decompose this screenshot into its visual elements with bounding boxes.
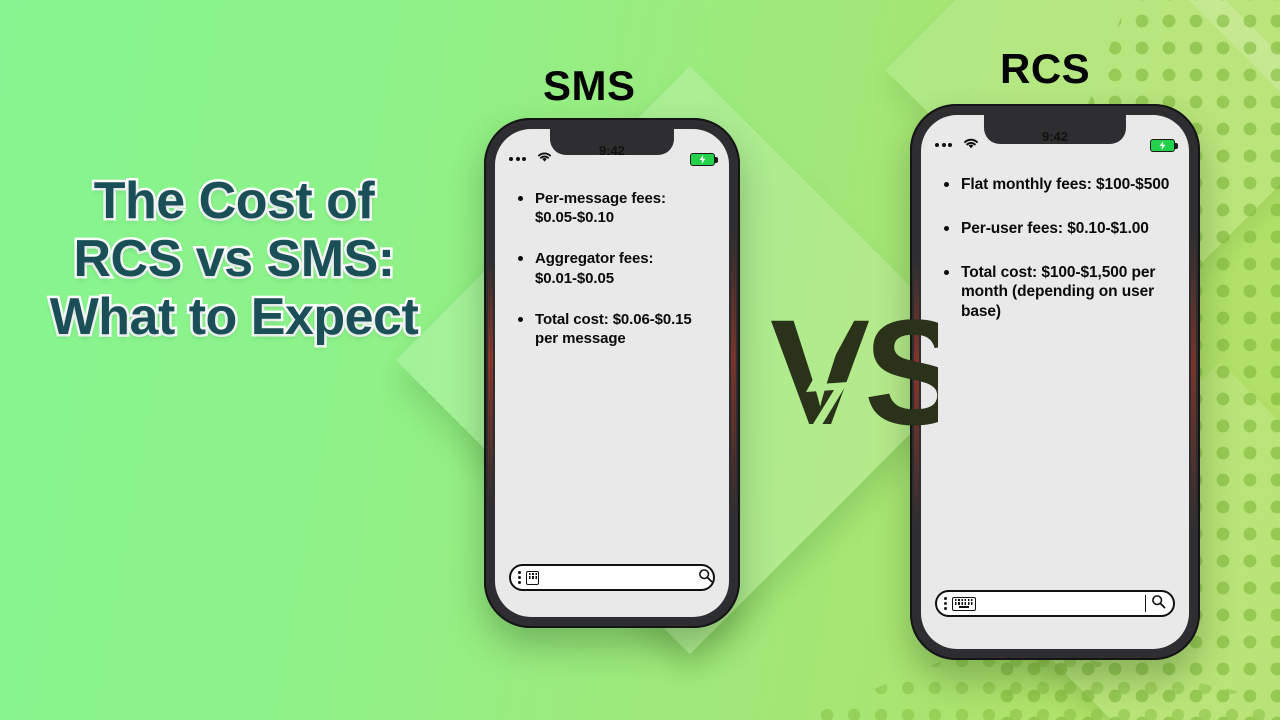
list-item: Total cost: $0.06-$0.15 per message [517, 310, 713, 348]
phone-content-sms: Per-message fees: $0.05-$0.10 Aggregator… [495, 175, 729, 564]
status-bar-rcs: 9:42 [921, 115, 1189, 161]
phone-screen-rcs: 9:42 Flat monthly fees: $100-$500 Per-us… [921, 115, 1189, 649]
battery-charging-icon [1150, 139, 1175, 152]
list-item: Total cost: $100-$1,500 per month (depen… [943, 263, 1173, 322]
search-bar-container-rcs [921, 590, 1189, 649]
vs-badge: VS [768, 272, 918, 472]
search-bar-sms[interactable] [509, 564, 715, 591]
list-item: Flat monthly fees: $100-$500 [943, 175, 1173, 195]
infographic-canvas: The Cost of RCS vs SMS: What to Expect S… [0, 0, 1280, 720]
svg-text:VS: VS [770, 288, 959, 456]
phone-screen-sms: 9:42 Per-message fees: $0.05-$0.10 Aggre… [495, 129, 729, 617]
battery-charging-icon [690, 153, 715, 166]
feature-list-rcs: Flat monthly fees: $100-$500 Per-user fe… [943, 175, 1173, 322]
keyboard-icon[interactable] [952, 597, 976, 611]
feature-list-sms: Per-message fees: $0.05-$0.10 Aggregator… [517, 189, 713, 348]
phone-mockup-sms: 9:42 Per-message fees: $0.05-$0.10 Aggre… [484, 118, 740, 628]
status-bar-sms: 9:42 [495, 129, 729, 175]
page-title: The Cost of RCS vs SMS: What to Expect [34, 172, 434, 347]
search-input[interactable] [539, 566, 693, 589]
vs-lightning-icon: VS [768, 272, 918, 472]
phone-mockup-rcs: 9:42 Flat monthly fees: $100-$500 Per-us… [910, 104, 1200, 660]
phone-label-sms: SMS [543, 62, 636, 110]
search-divider [1145, 595, 1147, 612]
phone-label-rcs: RCS [1000, 45, 1090, 93]
list-item: Aggregator fees: $0.01-$0.05 [517, 249, 713, 287]
search-icon[interactable] [1151, 594, 1169, 614]
vertical-dots-icon[interactable] [518, 571, 521, 584]
keyboard-icon[interactable] [526, 571, 539, 585]
search-bar-rcs[interactable] [935, 590, 1175, 617]
list-item: Per-message fees: $0.05-$0.10 [517, 189, 713, 227]
vertical-dots-icon[interactable] [944, 597, 947, 610]
status-bar-time: 9:42 [921, 129, 1189, 144]
list-item: Per-user fees: $0.10-$1.00 [943, 219, 1173, 239]
search-bar-container-sms [495, 564, 729, 617]
phone-content-rcs: Flat monthly fees: $100-$500 Per-user fe… [921, 161, 1189, 590]
search-icon[interactable] [698, 568, 716, 588]
search-input[interactable] [976, 592, 1145, 615]
